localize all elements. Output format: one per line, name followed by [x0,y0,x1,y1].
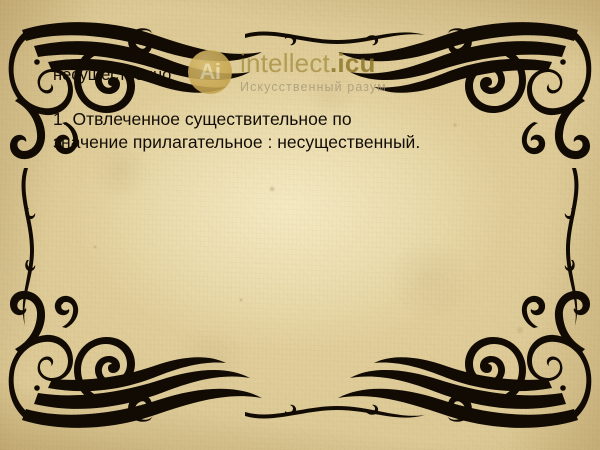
headword-title: несущественно [53,66,171,85]
watermark-brand-tld: .icu [330,48,376,78]
slide-canvas: Ai intellect.icu Искусственный разум нес… [0,0,600,450]
watermark-brand: intellect.icu [240,50,387,76]
watermark-text-block: intellect.icu Искусственный разум [240,50,387,94]
watermark-brand-light: intellect [240,48,330,78]
watermark: Ai intellect.icu Искусственный разум [188,50,387,94]
definition-text: 1. Отвлеченное существительное по значен… [53,108,523,154]
watermark-tagline: Искусственный разум [240,81,387,94]
ai-logo-icon: Ai [188,50,232,94]
ai-logo-text: Ai [188,50,232,94]
